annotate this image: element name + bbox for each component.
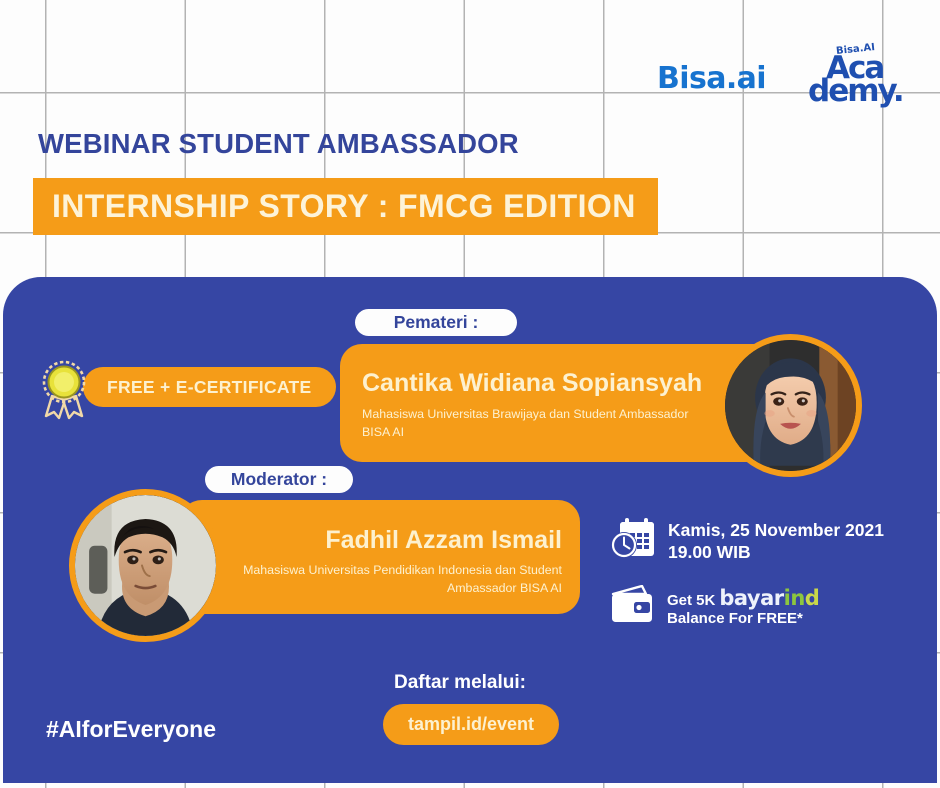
event-title-band: INTERNSHIP STORY : FMCG EDITION [33,178,658,235]
register-link-button[interactable]: tampil.id/event [383,704,559,745]
speaker-name: Cantika Widiana Sopiansyah [362,371,702,396]
hashtag: #AIforEveryone [46,716,216,743]
webinar-poster: Bisa.ai Bisa.AI Aca demy. WEBINAR STUDEN… [0,0,940,788]
speaker-portrait-image [725,340,856,471]
promo-block: Get 5K bayarind Balance For FREE* [610,585,819,627]
award-ribbon-icon [36,358,92,420]
promo-get-label: Get 5K [667,592,715,609]
speaker-description: Mahasiswa Universitas Brawijaya dan Stud… [362,406,692,442]
speaker-chip-label: Pemateri : [394,312,479,333]
moderator-avatar [69,489,222,642]
event-time: 19.00 WIB [668,542,884,564]
bayarind-n: n [790,586,804,610]
speaker-avatar [719,334,862,477]
speaker-chip: Pemateri : [355,309,517,336]
moderator-chip: Moderator : [205,466,353,493]
register-link-text: tampil.id/event [408,714,534,735]
moderator-portrait-image [75,495,216,636]
promo-balance-label: Balance For FREE* [667,610,819,627]
register-label: Daftar melalui: [394,672,526,694]
moderator-name: Fadhil Azzam Ismail [325,528,562,553]
moderator-card: Fadhil Azzam Ismail Mahasiswa Universita… [180,500,580,614]
academy-logo-line2: demy. [808,76,903,107]
free-certificate-badge: FREE + E-CERTIFICATE [83,367,336,407]
free-certificate-label: FREE + E-CERTIFICATE [107,377,312,398]
calendar-clock-icon [610,518,656,562]
bayarind-bayar: bayar [719,586,783,610]
brand-logos: Bisa.ai Bisa.AI Aca demy. [657,45,898,117]
event-date: Kamis, 25 November 2021 [668,520,884,542]
bayarind-logo: bayarind [719,588,819,609]
schedule-block: Kamis, 25 November 2021 19.00 WIB [610,518,884,564]
moderator-description: Mahasiswa Universitas Pendidikan Indones… [232,562,562,598]
event-title: INTERNSHIP STORY : FMCG EDITION [52,188,636,224]
moderator-chip-label: Moderator : [231,469,327,490]
event-kicker: WEBINAR STUDENT AMBASSADOR [38,128,519,160]
bisa-academy-logo: Bisa.AI Aca demy. [806,45,898,117]
bayarind-d: d [805,586,820,610]
bisa-ai-logo: Bisa.ai [657,45,766,94]
wallet-icon [610,585,656,625]
